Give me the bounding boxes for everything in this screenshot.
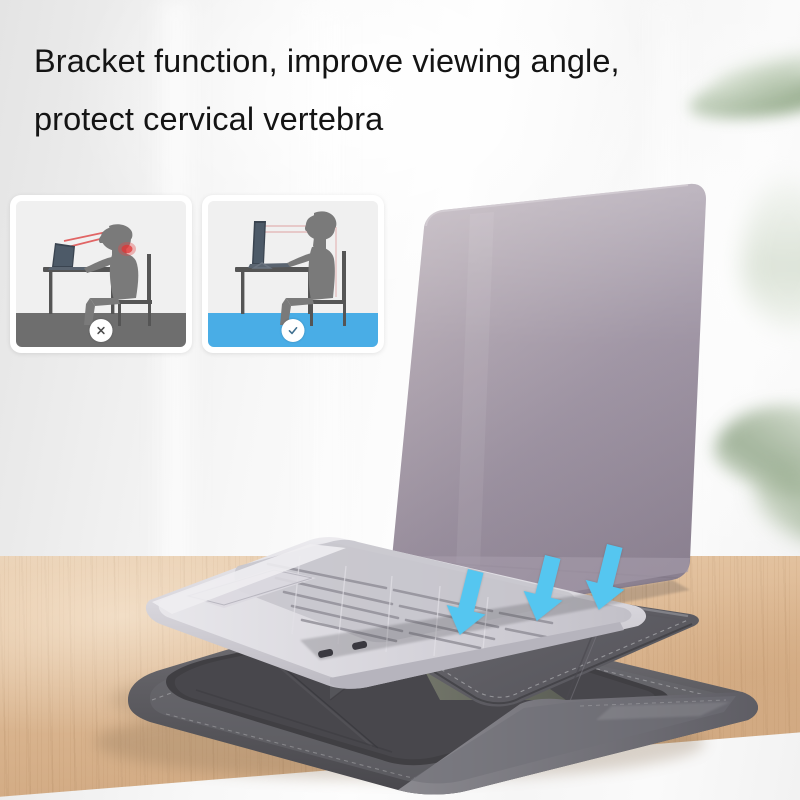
laptop-and-sleeve-svg	[0, 0, 800, 800]
product-marketing-image: Bracket function, improve viewing angle,…	[0, 0, 800, 800]
cross-icon	[95, 324, 108, 337]
status-badge-correct	[282, 319, 305, 342]
product-photo	[0, 0, 800, 800]
check-icon	[287, 324, 300, 337]
status-badge-incorrect	[90, 319, 113, 342]
